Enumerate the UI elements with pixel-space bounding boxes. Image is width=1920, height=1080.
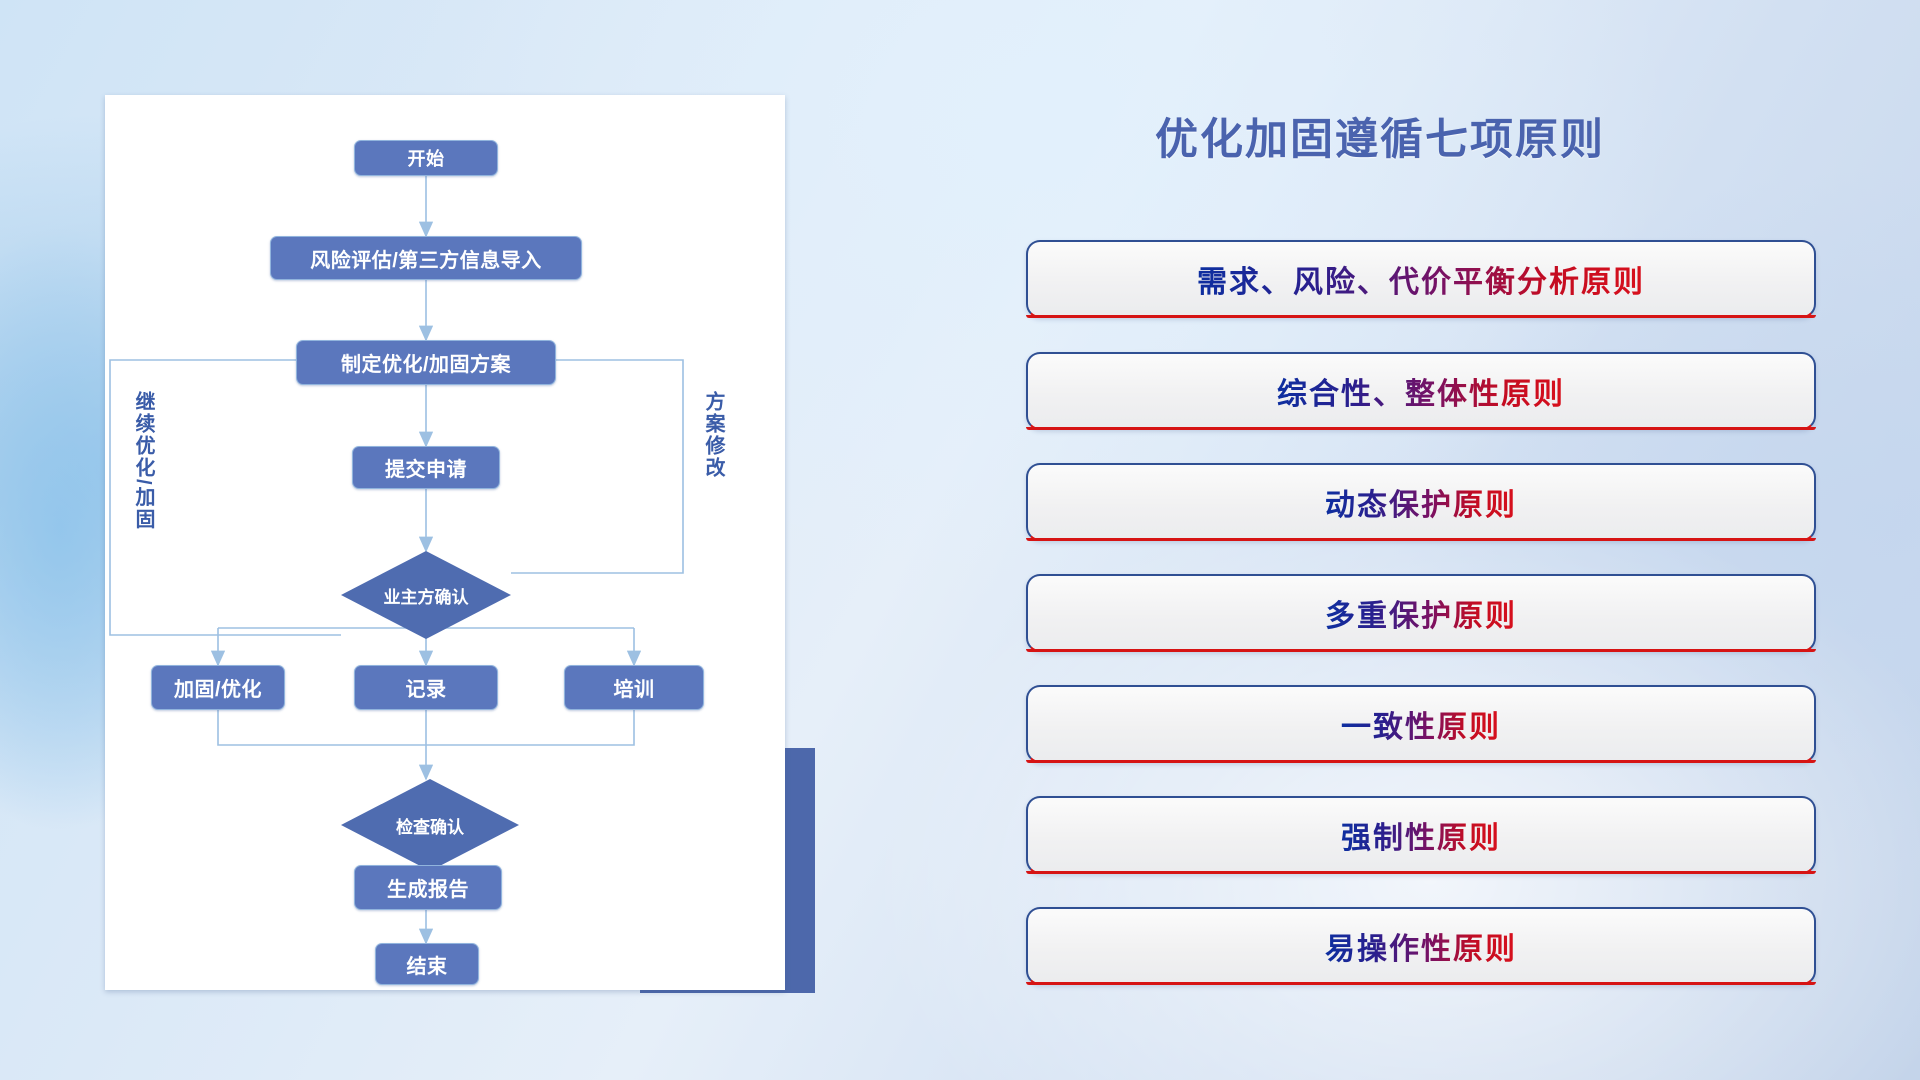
flow-node-label: 生成报告 [387, 873, 469, 902]
flow-node-label: 制定优化/加固方案 [341, 348, 511, 377]
flow-node-label: 培训 [614, 673, 655, 702]
flow-node-generate-report[interactable]: 生成报告 [354, 865, 502, 910]
principle-item-2[interactable]: 综合性、整体性原则 [1026, 352, 1816, 430]
flowchart-card: 开始 风险评估/第三方信息导入 制定优化/加固方案 提交申请 业主方确认 加固/… [105, 95, 785, 990]
flow-node-end[interactable]: 结束 [375, 943, 479, 985]
flow-node-reinforce-optimize[interactable]: 加固/优化 [151, 665, 285, 710]
principle-label: 一致性原则 [1341, 702, 1501, 746]
flow-node-risk-assessment[interactable]: 风险评估/第三方信息导入 [270, 236, 582, 280]
principle-label: 综合性、整体性原则 [1277, 369, 1565, 413]
flow-node-submit-application[interactable]: 提交申请 [352, 446, 500, 489]
principles-panel-title: 优化加固遵循七项原则 [1155, 105, 1605, 167]
principle-item-6[interactable]: 强制性原则 [1026, 796, 1816, 874]
flow-node-start[interactable]: 开始 [354, 140, 498, 176]
principle-label: 易操作性原则 [1325, 924, 1517, 968]
principle-item-3[interactable]: 动态保护原则 [1026, 463, 1816, 541]
flow-node-plan[interactable]: 制定优化/加固方案 [296, 340, 556, 385]
principle-item-4[interactable]: 多重保护原则 [1026, 574, 1816, 652]
principle-item-5[interactable]: 一致性原则 [1026, 685, 1816, 763]
flow-node-record[interactable]: 记录 [354, 665, 498, 710]
principle-label: 动态保护原则 [1325, 480, 1517, 524]
flow-node-label: 检查确认 [396, 813, 464, 838]
flow-node-label: 风险评估/第三方信息导入 [310, 244, 542, 273]
flow-node-label: 开始 [408, 145, 445, 171]
principle-item-1[interactable]: 需求、风险、代价平衡分析原则 [1026, 240, 1816, 318]
flow-node-label: 结束 [407, 950, 448, 979]
flow-edge-label-plan-revision: 方案修改 [699, 391, 728, 479]
flow-node-label: 加固/优化 [174, 673, 262, 702]
flow-node-label: 记录 [406, 673, 447, 702]
flow-edge-label-continue-optimize: 继续优化/加固 [129, 391, 158, 531]
principle-label: 需求、风险、代价平衡分析原则 [1197, 257, 1645, 301]
principle-item-7[interactable]: 易操作性原则 [1026, 907, 1816, 985]
flow-node-label: 提交申请 [385, 453, 467, 482]
flow-node-training[interactable]: 培训 [564, 665, 704, 710]
principle-label: 强制性原则 [1341, 813, 1501, 857]
principle-label: 多重保护原则 [1325, 591, 1517, 635]
flow-node-label: 业主方确认 [384, 583, 469, 608]
